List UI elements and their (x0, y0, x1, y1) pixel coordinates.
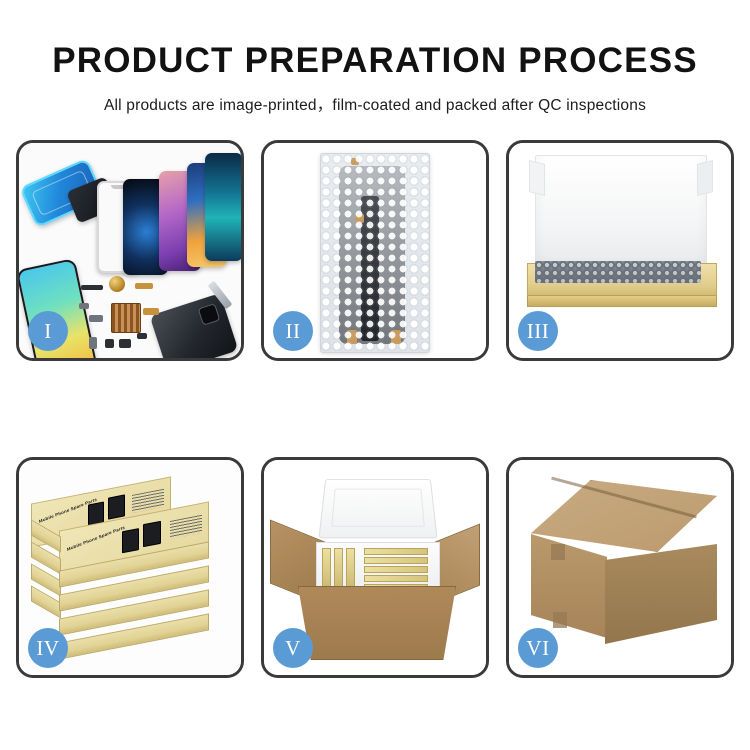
step-5-carton-packing: V (261, 457, 489, 678)
step-badge-4: IV (28, 628, 68, 668)
inner-box-col-2 (334, 548, 343, 590)
bubble-wrap-photo: II (264, 143, 486, 358)
sealed-carton-photo: VI (509, 460, 731, 675)
step-badge-6: VI (518, 628, 558, 668)
tan-tape-tab-bl (347, 330, 357, 344)
box-label-front: Mobile Phone Spare Parts (67, 525, 126, 552)
page-subtitle: All products are image-printed，film-coat… (0, 93, 750, 115)
white-foam-lid (535, 155, 707, 271)
bubble-wrap-pouch (320, 153, 430, 353)
carton-tape-upper (551, 544, 565, 560)
step-4-box-stack: Mobile Phone Spare Parts Mobile Phone Sp… (16, 457, 244, 678)
box-art-screen-c (122, 528, 139, 553)
tan-tape-tab-br (391, 330, 401, 344)
speaker-part (119, 339, 131, 348)
box-spec-lines-front (170, 515, 202, 539)
inner-box-row-1 (364, 548, 428, 555)
carton-left-face (531, 534, 607, 638)
inner-box-photo: III (509, 143, 731, 358)
inner-box-col-3 (346, 548, 355, 590)
step-6-sealed-carton: VI (506, 457, 734, 678)
carton-packing-photo: V (264, 460, 486, 675)
header: PRODUCT PREPARATION PROCESS All products… (0, 0, 750, 115)
carton-body (298, 586, 456, 660)
phone-display-teal (205, 153, 243, 261)
tan-tape-tab-mid (355, 214, 364, 223)
product-parts-photo: I (19, 143, 241, 358)
box-art-screen-d (143, 521, 161, 547)
step-2-bubble-wrap: II (261, 140, 489, 361)
inner-box-row-3 (364, 566, 428, 573)
step-badge-2: II (273, 311, 313, 351)
bracket-part-b (79, 303, 89, 309)
vibration-motor-part (109, 276, 125, 292)
step-badge-5: V (273, 628, 313, 668)
camera-lens-part (137, 333, 147, 339)
earpiece-mesh-part (81, 285, 103, 290)
box-spec-lines-rear (132, 489, 164, 513)
bracket-part-a (89, 315, 103, 322)
grey-bubble-wrap-contents (535, 261, 701, 283)
flex-cable-part-a (135, 283, 153, 289)
flex-cable-part-b (143, 308, 159, 315)
step-badge-1: I (28, 311, 68, 351)
styrofoam-lid-open (318, 479, 437, 538)
kraft-box-front-edge (527, 295, 717, 307)
carton-right-face (605, 544, 717, 644)
tan-tape-tab-top (351, 158, 359, 165)
inner-box-row-2 (364, 557, 428, 564)
sim-tray-part (89, 337, 97, 349)
box-art-screen-b (108, 494, 125, 519)
infographic-page: PRODUCT PREPARATION PROCESS All products… (0, 0, 750, 750)
carton-tape-lower (553, 612, 567, 628)
step-3-inner-box: III (506, 140, 734, 361)
box-stack-photo: Mobile Phone Spare Parts Mobile Phone Sp… (19, 460, 241, 675)
logic-board-chip (111, 303, 141, 333)
screw-part-a (105, 339, 114, 348)
step-1-products: I (16, 140, 244, 361)
inner-box-row-4 (364, 575, 428, 582)
inner-box-col-1 (322, 548, 331, 590)
step-badge-3: III (518, 311, 558, 351)
process-step-grid: I II (16, 140, 734, 718)
page-title: PRODUCT PREPARATION PROCESS (0, 42, 750, 81)
